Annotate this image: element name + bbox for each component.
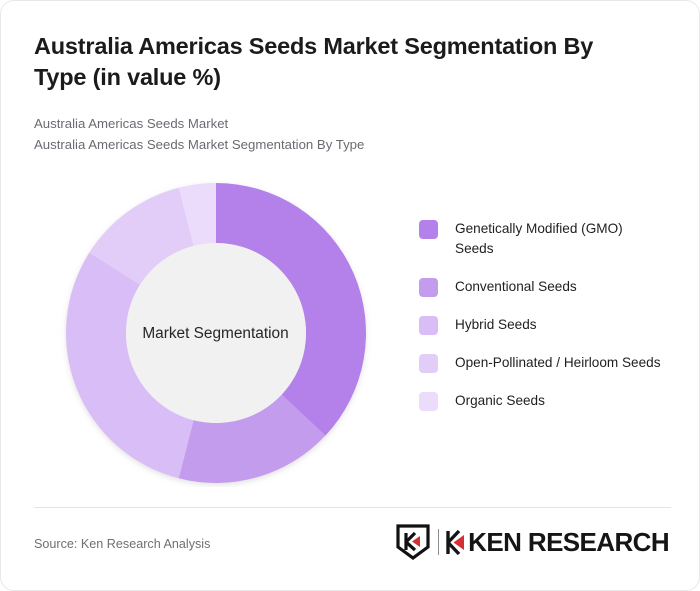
chart-legend: Genetically Modified (GMO) SeedsConventi…: [419, 219, 671, 429]
breadcrumb: Australia Americas Seeds Market Australi…: [34, 113, 644, 156]
brand-name: KEN RESEARCH: [468, 529, 669, 555]
legend-item[interactable]: Conventional Seeds: [419, 277, 671, 297]
shield-logo-icon: [395, 523, 431, 561]
subtitle-line-2: Australia Americas Seeds Market Segmenta…: [34, 134, 644, 155]
legend-item[interactable]: Organic Seeds: [419, 391, 671, 411]
subtitle-line-1: Australia Americas Seeds Market: [34, 113, 644, 134]
legend-color-swatch: [419, 220, 438, 239]
logo-k-icon: [445, 529, 467, 556]
legend-color-swatch: [419, 316, 438, 335]
legend-color-swatch: [419, 354, 438, 373]
legend-item-label: Hybrid Seeds: [455, 315, 537, 335]
legend-item-label: Genetically Modified (GMO) Seeds: [455, 219, 661, 259]
legend-item-label: Open-Pollinated / Heirloom Seeds: [455, 353, 661, 373]
legend-item[interactable]: Open-Pollinated / Heirloom Seeds: [419, 353, 671, 373]
legend-color-swatch: [419, 392, 438, 411]
legend-item[interactable]: Hybrid Seeds: [419, 315, 671, 335]
donut-hole: [126, 243, 306, 423]
legend-color-swatch: [419, 278, 438, 297]
logo-divider: [438, 529, 439, 555]
donut-chart: Market Segmentation: [33, 181, 399, 487]
chart-card: Australia Americas Seeds Market Segmenta…: [0, 0, 700, 591]
ken-research-logo: KEN RESEARCH: [395, 523, 669, 561]
legend-item[interactable]: Genetically Modified (GMO) Seeds: [419, 219, 671, 259]
legend-item-label: Conventional Seeds: [455, 277, 577, 297]
page-title: Australia Americas Seeds Market Segmenta…: [34, 31, 644, 93]
donut-chart-svg: [33, 181, 399, 487]
footer-divider: [34, 507, 671, 508]
legend-item-label: Organic Seeds: [455, 391, 545, 411]
source-note: Source: Ken Research Analysis: [34, 537, 210, 551]
